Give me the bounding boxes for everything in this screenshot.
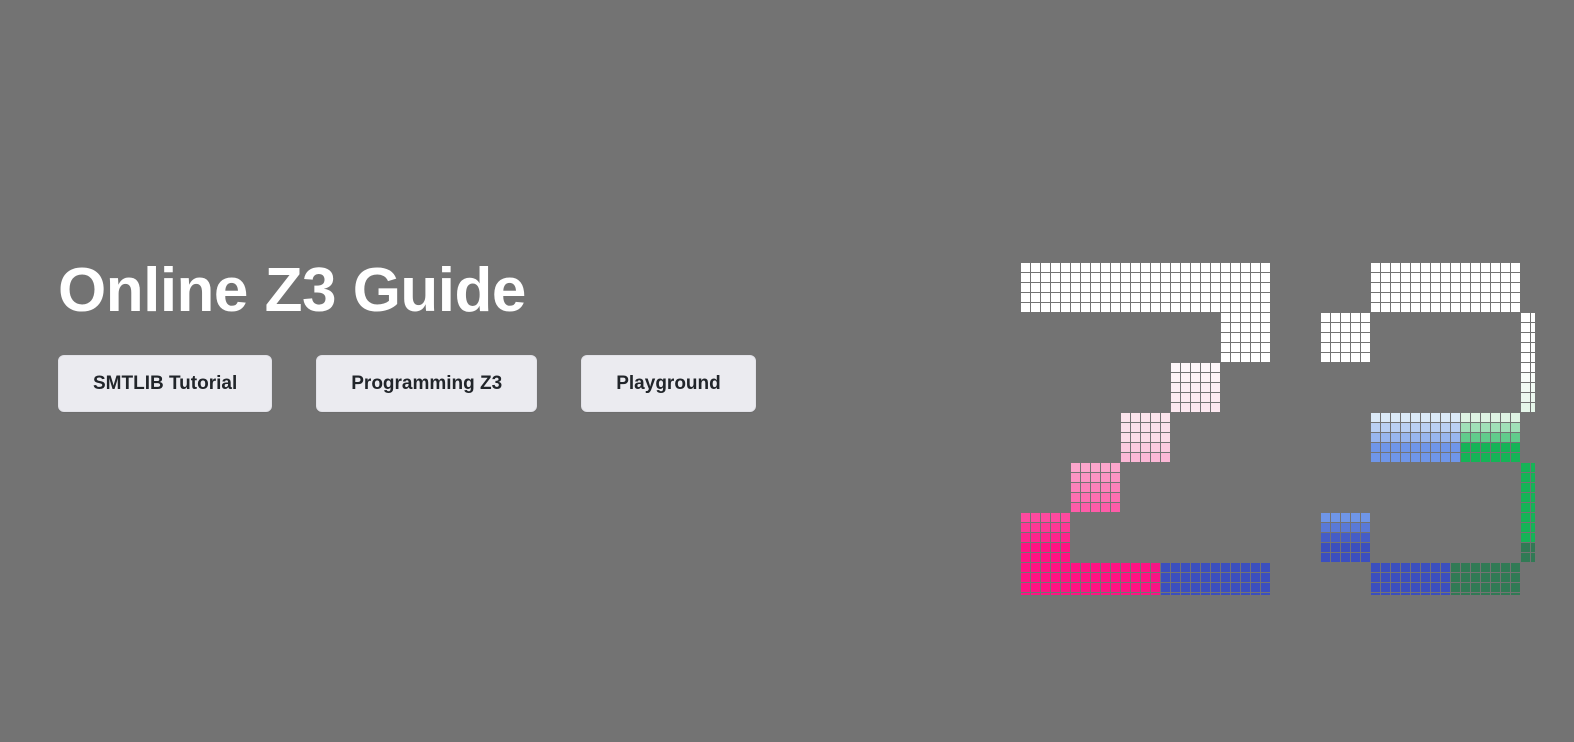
- z3-pixel-logo: [1015, 255, 1535, 595]
- programming-z3-button[interactable]: Programming Z3: [316, 355, 537, 412]
- hero-section: Online Z3 Guide SMTLIB Tutorial Programm…: [0, 0, 1574, 742]
- hero-text-block: Online Z3 Guide SMTLIB Tutorial Programm…: [58, 258, 958, 412]
- playground-button[interactable]: Playground: [581, 355, 756, 412]
- page-title: Online Z3 Guide: [58, 258, 958, 323]
- z3-logo-svg: [1015, 255, 1535, 595]
- smtlib-tutorial-button[interactable]: SMTLIB Tutorial: [58, 355, 272, 412]
- hero-button-row: SMTLIB Tutorial Programming Z3 Playgroun…: [58, 355, 958, 412]
